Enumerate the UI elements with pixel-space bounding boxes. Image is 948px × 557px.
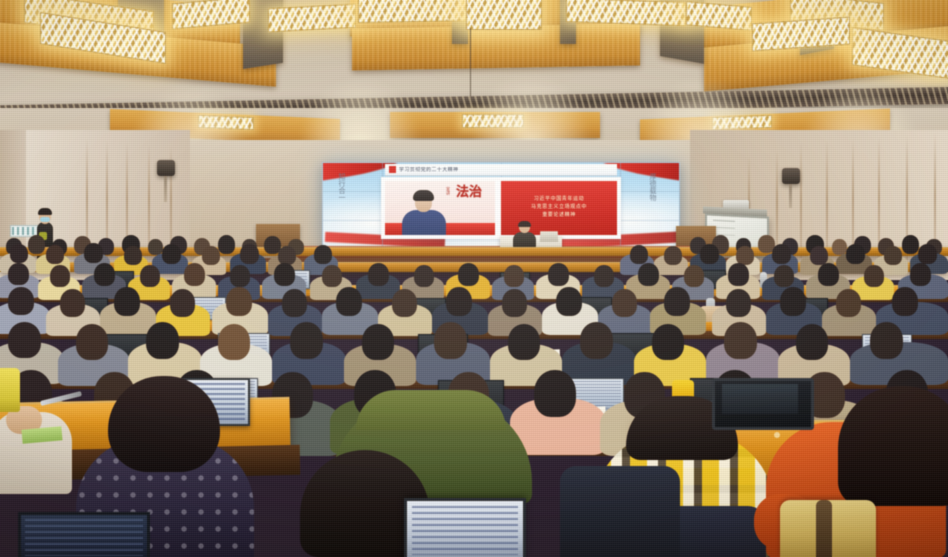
ceiling-light-glow — [470, 74, 590, 144]
lecture-hall-photo: 知行合一 厚德载物 学习贯彻党的二十大精神 宣讲 法治 习近平中国青年运动 马克… — [0, 0, 948, 557]
portrait-calligraphy: 法治 — [447, 185, 491, 233]
screen-calligraphy-right: 厚德载物 — [648, 173, 657, 201]
screen-content-card: 宣讲 法治 习近平中国青年运动 马克思主义立场观点中 重要论述精神 — [381, 177, 621, 239]
speaker-mount-pole — [164, 176, 167, 202]
speaker-mount-pole — [789, 184, 792, 208]
ceiling-light-fixture — [358, 0, 472, 23]
screen-header-text: 学习贯彻党的二十大精神 — [399, 167, 458, 173]
tablet-screen — [722, 384, 798, 414]
screen-header-mark-icon — [389, 166, 396, 173]
ceiling-beam — [352, 23, 640, 70]
slogan-line: 重要论述精神 — [542, 213, 576, 219]
ceiling-light-glow — [300, 78, 420, 148]
ceiling-light-fixture — [268, 4, 356, 33]
ceiling-light-fixture — [566, 0, 686, 26]
screen-calligraphy-left: 知行合一 — [337, 173, 346, 201]
laptop — [404, 498, 526, 557]
portrait-hair — [413, 190, 434, 201]
slogan-line: 习近平中国青年运动 — [534, 197, 584, 203]
face-mask-icon — [40, 217, 50, 222]
screen-speaker-portrait: 宣讲 法治 — [385, 181, 495, 235]
wall-speaker-icon — [782, 168, 800, 184]
chair-back — [560, 466, 680, 557]
screen-header-bar: 学习贯彻党的二十大精神 — [385, 164, 617, 176]
laptop — [18, 512, 150, 557]
water-bottle — [0, 368, 20, 412]
wall-speaker-icon — [157, 160, 175, 176]
slogan-line: 马克思主义立场观点中 — [531, 205, 587, 211]
bag-strap — [816, 500, 832, 557]
ceiling-light-fixture — [466, 0, 542, 30]
